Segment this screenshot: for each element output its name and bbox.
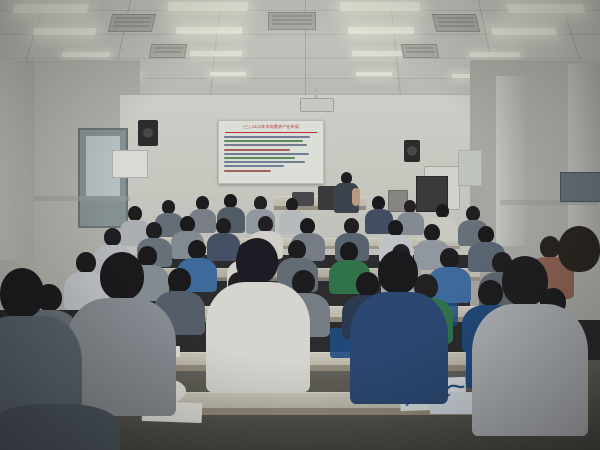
audience-head-near [378, 250, 418, 294]
audience-head-near [100, 252, 144, 300]
audience-head-near [558, 226, 600, 272]
audience-head [180, 216, 195, 232]
audience-head [388, 220, 403, 236]
ceiling-lamp [168, 2, 249, 11]
ceiling-grid-line [10, 58, 590, 59]
wall-monitor-right [560, 172, 600, 202]
wall-panel [458, 150, 482, 186]
audience-head-near [236, 238, 278, 284]
ceiling-vent [108, 14, 156, 32]
audience-head [540, 236, 560, 258]
caption [0, 446, 600, 450]
audience-head [466, 206, 480, 221]
audience-head [440, 248, 459, 268]
ceiling-lamp [190, 51, 242, 56]
wall-speaker-right [404, 140, 420, 162]
wall-speaker-left [138, 120, 158, 146]
foreground-shoulder [0, 404, 120, 450]
door[interactable] [78, 128, 128, 228]
audience-head [168, 268, 191, 292]
ceiling-vent [432, 14, 480, 32]
slide-title: (三) 2020年市场需求产业布局 [223, 124, 319, 130]
wall-pillar-right [496, 76, 526, 246]
audience-body-near [206, 282, 310, 392]
audience-head [128, 206, 142, 221]
audience-head [162, 200, 175, 214]
ceiling-lamp [491, 28, 557, 35]
ceiling-lamp [348, 27, 415, 34]
ceiling-lamp [210, 72, 246, 76]
ceiling-lamp [356, 72, 392, 76]
ceiling-lamp [470, 52, 521, 57]
audience-head [436, 204, 449, 218]
ceiling-lamp [352, 51, 404, 56]
photograph-classroom-lecture: (三) 2020年市场需求产业布局 [0, 0, 600, 450]
audience-head [146, 222, 162, 239]
ceiling-lamp [507, 4, 586, 13]
wall-trim [34, 196, 130, 201]
wall-pillar-left [0, 60, 34, 260]
audience-head [300, 218, 315, 234]
wall-notice [112, 150, 148, 178]
audience-body-near [66, 298, 176, 416]
audience-head [372, 196, 385, 210]
audience-body-near [350, 292, 448, 404]
ceiling-vent [149, 44, 187, 58]
audience-head [188, 240, 206, 259]
audience-body [207, 233, 240, 261]
ceiling-vent [268, 12, 316, 30]
audience-head [224, 194, 237, 208]
audience-body-near [472, 304, 588, 436]
ceiling-vent [401, 44, 439, 58]
audience-head-near [0, 268, 44, 318]
ceiling-lamp [33, 28, 97, 35]
audience-head [104, 228, 121, 246]
ceiling-lamp [62, 52, 111, 57]
ceiling-lamp [340, 2, 421, 11]
audience-head [424, 224, 440, 241]
audience-head [254, 196, 267, 210]
ceiling-lamp [13, 4, 90, 13]
audience-head [344, 218, 359, 234]
audience-head [216, 218, 231, 234]
audience-head [356, 272, 379, 296]
audience-head [196, 196, 209, 210]
lecturer-arm [352, 188, 360, 206]
audience-head [76, 252, 96, 273]
ceiling-lamp [176, 27, 243, 34]
audience-head [478, 280, 503, 306]
projector [300, 98, 334, 112]
audience-head-near [502, 256, 548, 306]
audience-head [340, 242, 358, 261]
audience-head [288, 240, 306, 259]
audience-head [258, 216, 273, 232]
projection-screen: (三) 2020年市场需求产业布局 [218, 120, 324, 184]
audience-head [478, 226, 494, 243]
